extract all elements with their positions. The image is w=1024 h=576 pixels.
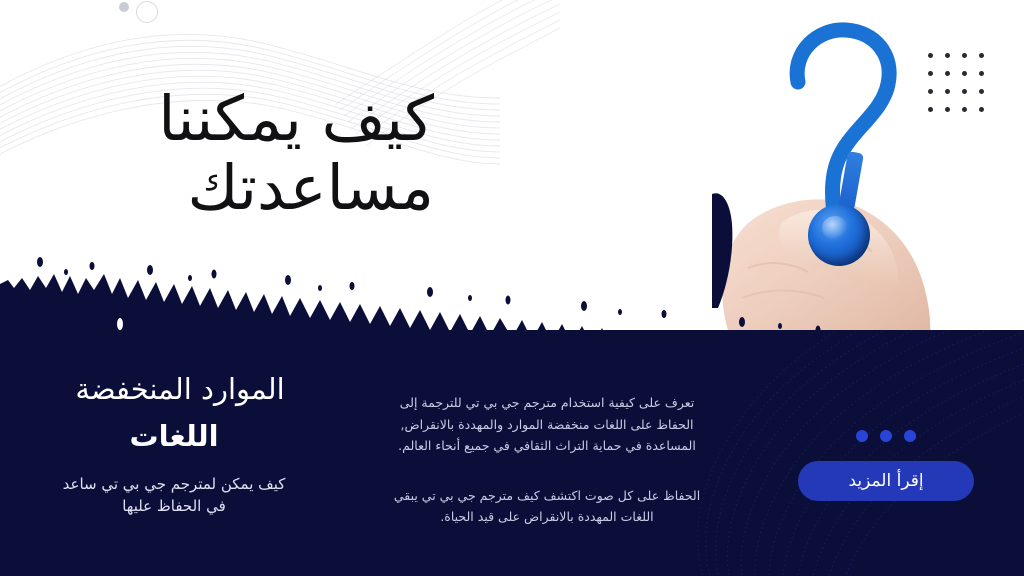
panel-paragraph-1: تعرف على كيفية استخدام مترجم جي بي تي لل… [392,392,702,457]
panel-title-line-1: الموارد المنخفضة [0,372,360,406]
headline-line-1: كيف يمكننا [158,82,434,155]
panel-left-block: الموارد المنخفضة اللغات كيف يمكن لمترجم … [0,372,348,518]
cta-dot [856,430,868,442]
panel-title-line-2: اللغات [0,418,348,454]
cta-dot [904,430,916,442]
panel-paragraph-2: الحفاظ على كل صوت اكتشف كيف مترجم جي بي … [392,485,702,528]
hero-section: كيف يمكننا مساعدتك [0,0,1024,330]
cta-block: إقرأ المزيد [798,430,974,501]
page-title: كيف يمكننا مساعدتك [14,84,434,223]
read-more-button[interactable]: إقرأ المزيد [798,461,974,501]
headline-line-2: مساعدتك [14,153,434,222]
panel-subtitle: كيف يمكن لمترجم جي بي تي ساعد في الحفاظ … [0,474,348,518]
panel-middle-block: تعرف على كيفية استخدام مترجم جي بي تي لل… [392,392,702,528]
hero-artwork [690,0,1024,330]
info-panel: الموارد المنخفضة اللغات كيف يمكن لمترجم … [0,330,1024,576]
decorative-dot [119,2,129,12]
marker-tip [808,204,870,266]
slide-canvas: كيف يمكننا مساعدتك [0,0,1024,576]
cta-dots-decoration [798,430,974,442]
cta-dot [880,430,892,442]
decorative-circle-outline [136,1,158,23]
